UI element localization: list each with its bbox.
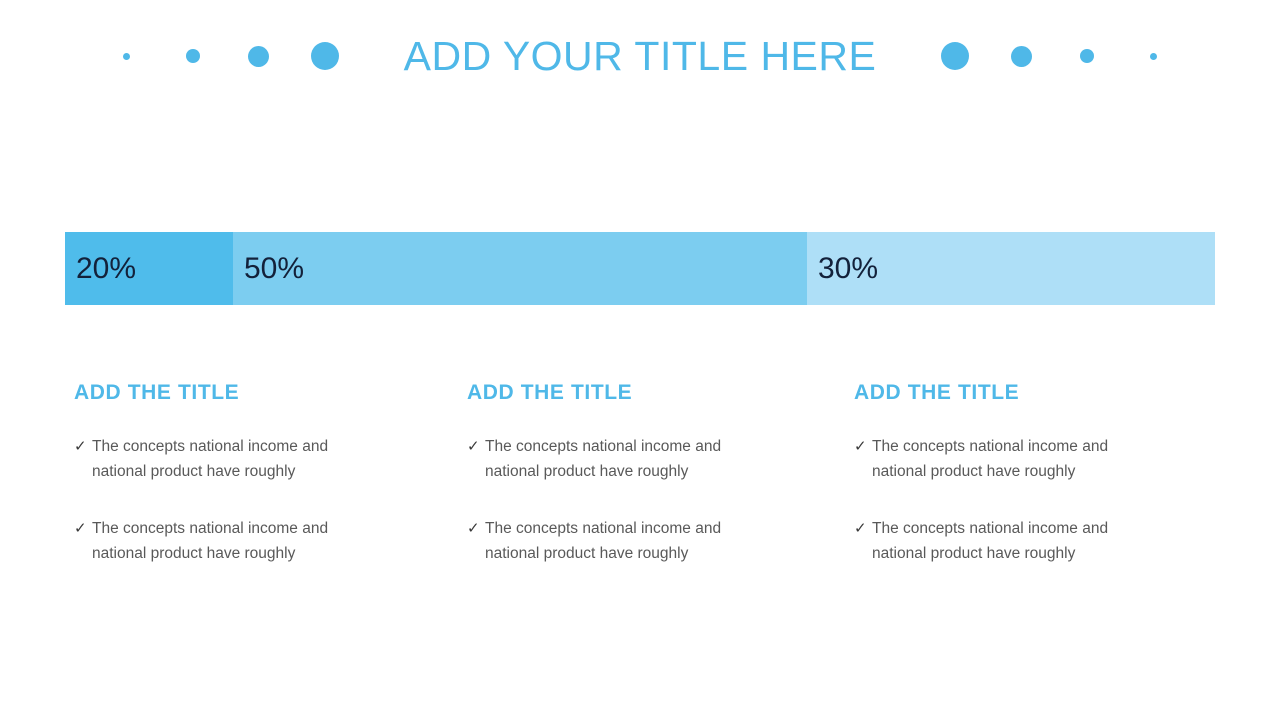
- dot-slot-3: [226, 46, 292, 67]
- dot-slot-2: [160, 49, 226, 63]
- column-3-bullet-list: ✓ The concepts national income and natio…: [854, 434, 1188, 566]
- bar-segment-3-label: 30%: [818, 254, 878, 284]
- dot-slot-5: [922, 42, 988, 70]
- dot-slot-1: [94, 53, 160, 60]
- dot-slot-4: [292, 42, 358, 70]
- check-icon: ✓: [467, 434, 485, 459]
- decorative-dot-4: [311, 42, 339, 70]
- bar-segment-1[interactable]: 20%: [65, 232, 233, 305]
- bullet-text: The concepts national income and nationa…: [872, 434, 1147, 484]
- column-1-bullet-list: ✓ The concepts national income and natio…: [74, 434, 394, 566]
- list-item: ✓ The concepts national income and natio…: [74, 516, 394, 566]
- bullet-text: The concepts national income and nationa…: [485, 434, 760, 484]
- dot-slot-7: [1054, 49, 1120, 63]
- decorative-dot-3: [248, 46, 269, 67]
- list-item: ✓ The concepts national income and natio…: [467, 516, 788, 566]
- bullet-text: The concepts national income and nationa…: [872, 516, 1147, 566]
- dot-slot-6: [988, 46, 1054, 67]
- column-1-title: ADD THE TITLE: [74, 382, 394, 403]
- decorative-dot-1: [123, 53, 130, 60]
- content-columns: ADD THE TITLE ✓ The concepts national in…: [0, 382, 1280, 566]
- check-icon: ✓: [467, 516, 485, 541]
- column-2-bullet-list: ✓ The concepts national income and natio…: [467, 434, 788, 566]
- check-icon: ✓: [74, 434, 92, 459]
- bar-segment-1-label: 20%: [76, 254, 136, 284]
- decorative-dot-7: [1080, 49, 1094, 63]
- dot-slot-8: [1120, 53, 1186, 60]
- content-column-1: ADD THE TITLE ✓ The concepts national in…: [0, 382, 394, 566]
- decorative-dot-5: [941, 42, 969, 70]
- list-item: ✓ The concepts national income and natio…: [854, 434, 1188, 484]
- decorative-dots-left: [94, 42, 358, 70]
- column-3-title: ADD THE TITLE: [854, 382, 1188, 403]
- check-icon: ✓: [854, 434, 872, 459]
- list-item: ✓ The concepts national income and natio…: [467, 434, 788, 484]
- bar-segment-3[interactable]: 30%: [807, 232, 1215, 305]
- slide-header: ADD YOUR TITLE HERE: [0, 0, 1280, 112]
- content-column-2: ADD THE TITLE ✓ The concepts national in…: [394, 382, 788, 566]
- bullet-text: The concepts national income and nationa…: [485, 516, 760, 566]
- decorative-dots-right: [922, 42, 1186, 70]
- decorative-dot-2: [186, 49, 200, 63]
- bullet-text: The concepts national income and nationa…: [92, 434, 367, 484]
- bar-segment-2-label: 50%: [244, 254, 304, 284]
- check-icon: ✓: [74, 516, 92, 541]
- check-icon: ✓: [854, 516, 872, 541]
- bullet-text: The concepts national income and nationa…: [92, 516, 367, 566]
- decorative-dot-8: [1150, 53, 1157, 60]
- content-column-3: ADD THE TITLE ✓ The concepts national in…: [788, 382, 1188, 566]
- stacked-percentage-bar: 20% 50% 30%: [65, 232, 1215, 305]
- bar-segment-2[interactable]: 50%: [233, 232, 807, 305]
- column-2-title: ADD THE TITLE: [467, 382, 788, 403]
- list-item: ✓ The concepts national income and natio…: [74, 434, 394, 484]
- decorative-dot-6: [1011, 46, 1032, 67]
- list-item: ✓ The concepts national income and natio…: [854, 516, 1188, 566]
- page-title: ADD YOUR TITLE HERE: [358, 36, 923, 77]
